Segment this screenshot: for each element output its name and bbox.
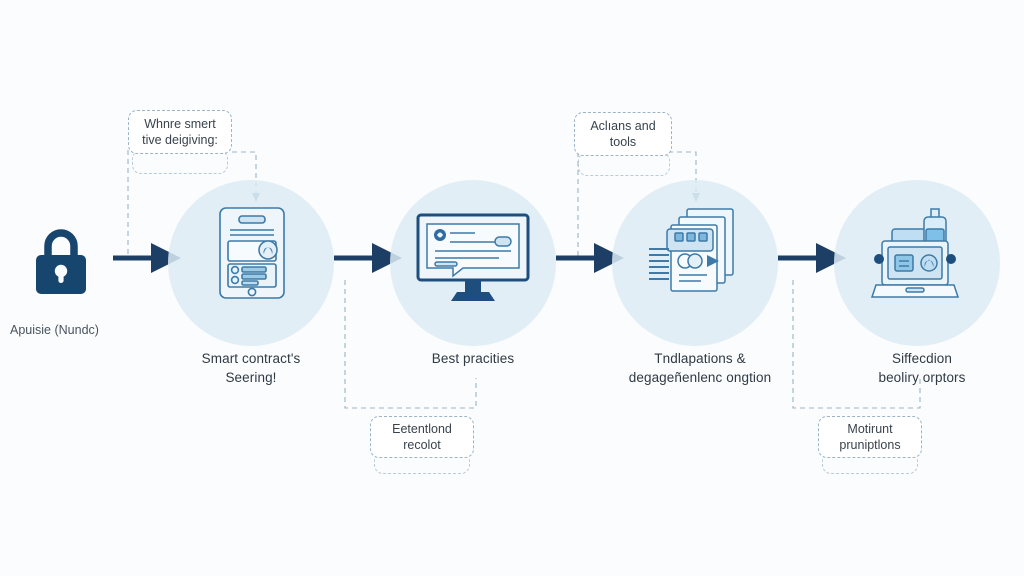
note-bottom-left[interactable]: Eetentlond recolot (370, 416, 474, 458)
tablet-document-icon (217, 205, 287, 301)
note-top-right[interactable]: Aclıans and tools (574, 112, 672, 156)
documents-stack-icon (645, 205, 745, 305)
stage-2-label: Best pracities (388, 349, 558, 368)
stage-4-label: Siffecdion beoliry orptors (832, 349, 1012, 387)
lock-icon (28, 226, 94, 296)
desktop-monitor-icon (415, 212, 531, 304)
note-top-left[interactable]: Whnre smert tive deigiving: (128, 110, 232, 154)
stage-3-label: Tndlapations & degageñenlenc ongtion (600, 349, 800, 387)
note-bottom-right[interactable]: Motirunt pruniptlons (818, 416, 922, 458)
laptop-device-icon (862, 203, 968, 305)
diagram-canvas: Apuisie (Nundc) (0, 0, 1024, 576)
stage-1-label: Smart contract's Seering! (166, 349, 336, 387)
origin-label: Apuisie (Nundc) (10, 322, 140, 338)
